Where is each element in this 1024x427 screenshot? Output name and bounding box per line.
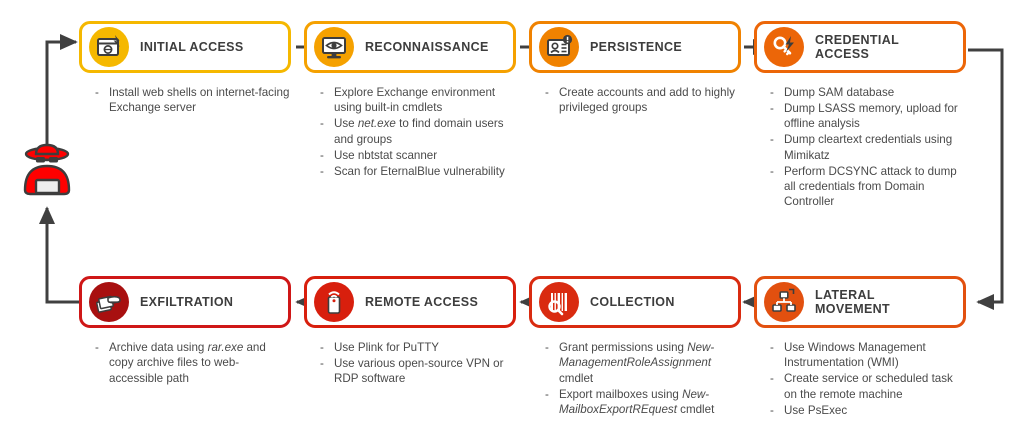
bullet-item: Use net.exe to find domain users and gro… [318, 116, 516, 147]
stage-header-collection[interactable]: COLLECTION [529, 276, 741, 328]
network-nodes-icon [764, 282, 804, 322]
id-card-icon [539, 27, 579, 67]
bullet-item: Create accounts and add to highly privil… [543, 85, 741, 116]
stage-collection[interactable]: COLLECTION Grant permissions using New-M… [529, 276, 741, 418]
stage-bullets-collection: Grant permissions using New-ManagementRo… [543, 340, 741, 418]
stage-header-reconnaissance[interactable]: RECONNAISSANCE [304, 21, 516, 73]
bullet-item: Create service or scheduled task on the … [768, 371, 966, 402]
bullet-item: Use Windows Management Instrumentation (… [768, 340, 966, 371]
stage-credential-access[interactable]: CREDENTIAL ACCESS Dump SAM databaseDump … [754, 21, 966, 210]
stage-bullets-persistence: Create accounts and add to highly privil… [543, 85, 741, 116]
stage-lateral-movement[interactable]: LATERAL MOVEMENT Use Windows Management … [754, 276, 966, 419]
stage-bullets-reconnaissance: Explore Exchange environment using built… [318, 85, 516, 179]
bullet-item: Export mailboxes using New-MailboxExport… [543, 387, 741, 418]
key-bolt-icon [764, 27, 804, 67]
stage-title-credential-access: CREDENTIAL ACCESS [815, 33, 899, 62]
monitor-eye-icon [314, 27, 354, 67]
stage-title-reconnaissance: RECONNAISSANCE [365, 40, 489, 55]
stage-reconnaissance[interactable]: RECONNAISSANCE Explore Exchange environm… [304, 21, 516, 179]
stage-title-initial-access: INITIAL ACCESS [140, 40, 244, 55]
stage-bullets-remote-access: Use Plink for PuTTYUse various open-sour… [318, 340, 516, 387]
connector-credential-access-to-lateral-movement [968, 50, 1002, 302]
bullet-item: Dump LSASS memory, upload for offline an… [768, 101, 966, 132]
connector-attacker-to-initial-access [47, 42, 76, 150]
stage-title-lateral-movement: LATERAL MOVEMENT [815, 288, 890, 317]
barcode-search-icon [539, 282, 579, 322]
bullet-item: Explore Exchange environment using built… [318, 85, 516, 116]
stage-bullets-credential-access: Dump SAM databaseDump LSASS memory, uplo… [768, 85, 966, 210]
stage-title-persistence: PERSISTENCE [590, 40, 682, 55]
bullet-item: Dump SAM database [768, 85, 966, 100]
bullet-item: Archive data using rar.exe and copy arch… [93, 340, 291, 386]
stage-exfiltration[interactable]: EXFILTRATION Archive data using rar.exe … [79, 276, 291, 387]
bullet-item: Grant permissions using New-ManagementRo… [543, 340, 741, 386]
bullet-item: Install web shells on internet-facing Ex… [93, 85, 291, 116]
stage-title-collection: COLLECTION [590, 295, 675, 310]
bullet-item: Use various open-source VPN or RDP softw… [318, 356, 516, 387]
stage-header-lateral-movement[interactable]: LATERAL MOVEMENT [754, 276, 966, 328]
stage-header-remote-access[interactable]: REMOTE ACCESS [304, 276, 516, 328]
bullet-item: Scan for EternalBlue vulnerability [318, 164, 516, 179]
stage-remote-access[interactable]: REMOTE ACCESS Use Plink for PuTTYUse var… [304, 276, 516, 387]
attacker-figure [16, 140, 78, 202]
stage-persistence[interactable]: PERSISTENCE Create accounts and add to h… [529, 21, 741, 116]
remote-signal-icon [314, 282, 354, 322]
stage-initial-access[interactable]: INITIAL ACCESS Install web shells on int… [79, 21, 291, 116]
stage-header-exfiltration[interactable]: EXFILTRATION [79, 276, 291, 328]
hacker-icon [16, 140, 78, 202]
stage-title-remote-access: REMOTE ACCESS [365, 295, 478, 310]
web-shell-icon [89, 27, 129, 67]
stage-bullets-lateral-movement: Use Windows Management Instrumentation (… [768, 340, 966, 418]
attack-chain-diagram: INITIAL ACCESS Install web shells on int… [0, 0, 1024, 427]
hand-files-icon [89, 282, 129, 322]
bullet-item: Dump cleartext credentials using Mimikat… [768, 132, 966, 163]
stage-bullets-initial-access: Install web shells on internet-facing Ex… [93, 85, 291, 116]
bullet-item: Use Plink for PuTTY [318, 340, 516, 355]
stage-header-initial-access[interactable]: INITIAL ACCESS [79, 21, 291, 73]
bullet-item: Use PsExec [768, 403, 966, 418]
stage-header-persistence[interactable]: PERSISTENCE [529, 21, 741, 73]
stage-header-credential-access[interactable]: CREDENTIAL ACCESS [754, 21, 966, 73]
bullet-item: Perform DCSYNC attack to dump all creden… [768, 164, 966, 210]
stage-bullets-exfiltration: Archive data using rar.exe and copy arch… [93, 340, 291, 386]
stage-title-exfiltration: EXFILTRATION [140, 295, 233, 310]
bullet-item: Use nbtstat scanner [318, 148, 516, 163]
